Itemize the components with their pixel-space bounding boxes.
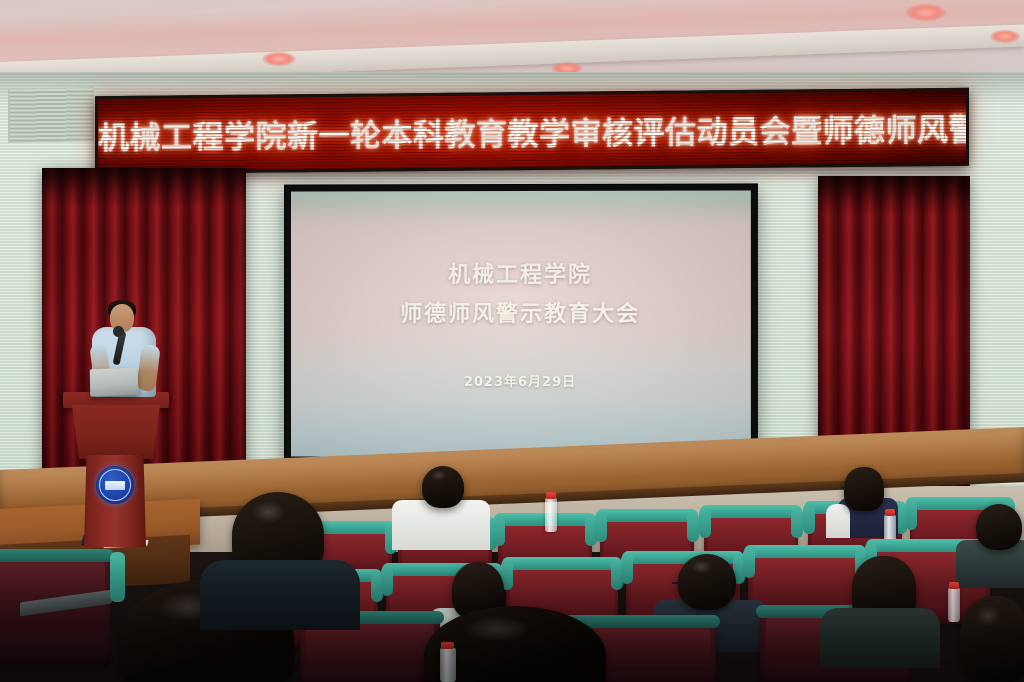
slide-date: 2023年6月29日 — [291, 371, 751, 390]
eyeglasses-icon — [841, 487, 853, 493]
emblem-book-glyph — [105, 481, 125, 490]
seat-armrest — [699, 508, 711, 538]
seat-armrest — [791, 508, 803, 538]
attendee-sleeve — [826, 504, 850, 538]
bottle-cap — [546, 492, 556, 499]
led-scanline-overlay — [98, 91, 966, 171]
bottle-cap — [885, 509, 895, 516]
seat-armrest — [493, 516, 505, 546]
projection-screen: 机械工程学院 师德师风警示教育大会 2023年6月29日 — [284, 183, 758, 464]
curtain-top-shadow — [42, 168, 246, 208]
auditorium-photo: 机械工程学院新一轮本科教育教学审核评估动员会暨师德师风警示教育会 机械工程学院 … — [0, 0, 1024, 682]
downlight-icon — [906, 4, 946, 21]
seat-headrest-trim — [596, 509, 698, 522]
attendee-head — [422, 466, 464, 508]
podium-body — [72, 405, 160, 459]
seat-armrest — [905, 500, 917, 530]
microphone-capsule — [113, 326, 124, 337]
downlight-icon — [262, 52, 296, 66]
seat-armrest — [595, 512, 607, 542]
foreground-shadow-overlay — [0, 556, 1024, 682]
seat-headrest-trim — [700, 505, 802, 518]
university-emblem-icon — [96, 466, 134, 504]
curtain-top-shadow — [818, 176, 970, 216]
water-bottle — [545, 498, 557, 532]
slide-title: 机械工程学院 — [291, 257, 751, 289]
led-banner: 机械工程学院新一轮本科教育教学审核评估动员会暨师德师风警示教育会 — [95, 88, 969, 174]
slide-subtitle: 师德师风警示教育大会 — [291, 296, 751, 328]
projection-screen-surface: 机械工程学院 师德师风警示教育大会 2023年6月29日 — [291, 190, 751, 457]
attendee-head — [976, 504, 1022, 550]
seat-armrest — [687, 512, 699, 542]
speaker-laptop — [90, 368, 139, 397]
wall-vent-grille — [8, 87, 94, 143]
downlight-icon — [990, 30, 1020, 43]
seat-armrest — [803, 504, 815, 534]
